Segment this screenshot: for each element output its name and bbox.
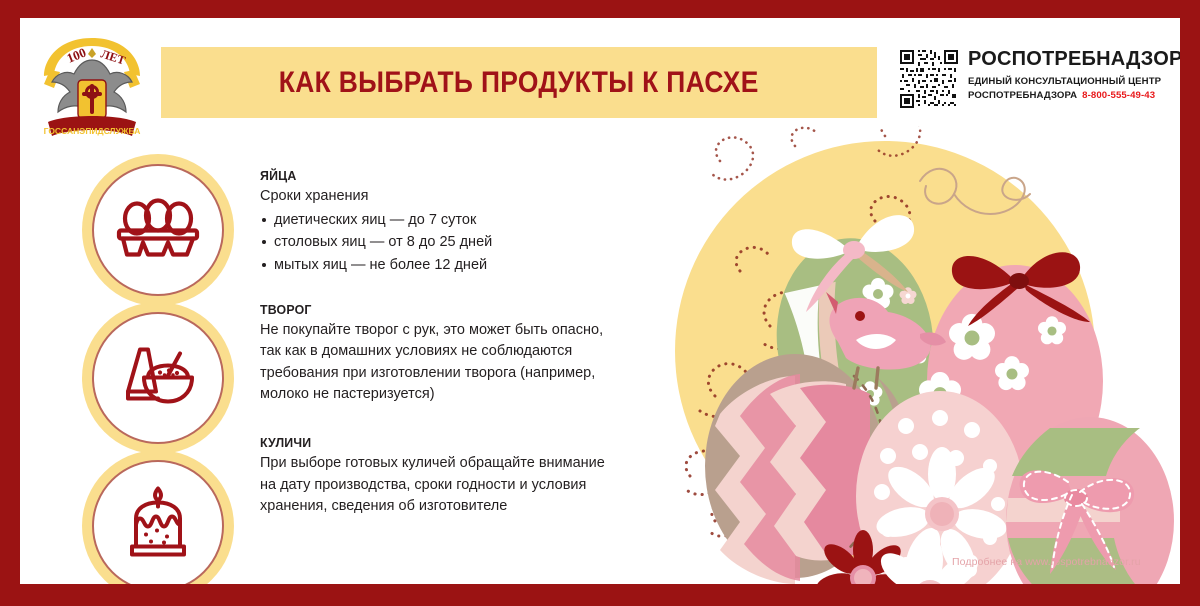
section-heading-eggs: ЯЙЦА xyxy=(260,168,602,183)
page-title: КАК ВЫБРАТЬ ПРОДУКТЫ К ПАСХЕ xyxy=(279,66,759,100)
section-icon-cottage-cheese xyxy=(82,302,234,454)
brand-subtitle-line1: ЕДИНЫЙ КОНСУЛЬТАЦИОННЫЙ ЦЕНТР xyxy=(968,75,1180,89)
section-easter-cakes: КУЛИЧИ При выборе готовых куличей обраща… xyxy=(260,435,620,517)
brand-subtitle-line2: РОСПОТРЕБНАДЗОРА xyxy=(968,90,1077,101)
section-eggs: ЯЙЦА Сроки хранения диетических яиц — до… xyxy=(260,168,620,276)
poster-title-bar: КАК ВЫБРАТЬ ПРОДУКТЫ К ПАСХЕ xyxy=(161,47,877,118)
section-heading-cottage-cheese: ТВОРОГ xyxy=(260,302,602,317)
section-icon-easter-cake xyxy=(82,450,234,584)
section-body-easter-cakes: При выборе готовых куличей обращайте вни… xyxy=(260,453,620,517)
section-cottage-cheese: ТВОРОГ Не покупайте творог с рук, это мо… xyxy=(260,302,620,405)
poster-sheet: 100 ЛЕТ ГОССАНЭПИДСЛУЖБА КАК ВЫБРАТЬ ПРО… xyxy=(20,18,1180,584)
qr-code-icon[interactable] xyxy=(900,50,958,108)
illustration-caption: Подробнее на www.rospotrebnadzor.ru xyxy=(952,556,1141,568)
section-body-cottage-cheese: Не покупайте творог с рук, это может быт… xyxy=(260,320,620,405)
cottage-cheese-bowl-icon xyxy=(118,342,198,415)
list-item: столовых яиц — от 8 до 25 дней xyxy=(260,231,620,253)
section-icon-eggs xyxy=(82,154,234,306)
brand-name: РОСПОТРЕБНАДЗОР xyxy=(968,49,1180,69)
eggs-bullet-list: диетических яиц — до 7 суток столовых яи… xyxy=(260,209,620,276)
list-item: диетических яиц — до 7 суток xyxy=(260,209,620,231)
section-lead-eggs: Сроки хранения xyxy=(260,186,620,207)
hotline-phone[interactable]: 8-800-555-49-43 xyxy=(1082,90,1155,101)
content-text-column: ЯЙЦА Сроки хранения диетических яиц — до… xyxy=(260,168,620,543)
list-item: мытых яиц — не более 12 дней xyxy=(260,254,620,276)
easter-cake-icon xyxy=(122,485,194,568)
egg-carton-icon xyxy=(115,195,201,266)
svg-text:ГОССАНЭПИДСЛУЖБА: ГОССАНЭПИДСЛУЖБА xyxy=(44,126,141,136)
easter-eggs-illustration xyxy=(620,126,1180,584)
section-icon-column xyxy=(82,154,242,584)
section-heading-easter-cakes: КУЛИЧИ xyxy=(260,435,602,450)
rospotrebnadzor-emblem-icon: 100 ЛЕТ ГОССАНЭПИДСЛУЖБА xyxy=(36,30,148,150)
poster-frame: 100 ЛЕТ ГОССАНЭПИДСЛУЖБА КАК ВЫБРАТЬ ПРО… xyxy=(0,0,1200,606)
brand-block: РОСПОТРЕБНАДЗОР ЕДИНЫЙ КОНСУЛЬТАЦИОННЫЙ … xyxy=(900,48,1180,124)
